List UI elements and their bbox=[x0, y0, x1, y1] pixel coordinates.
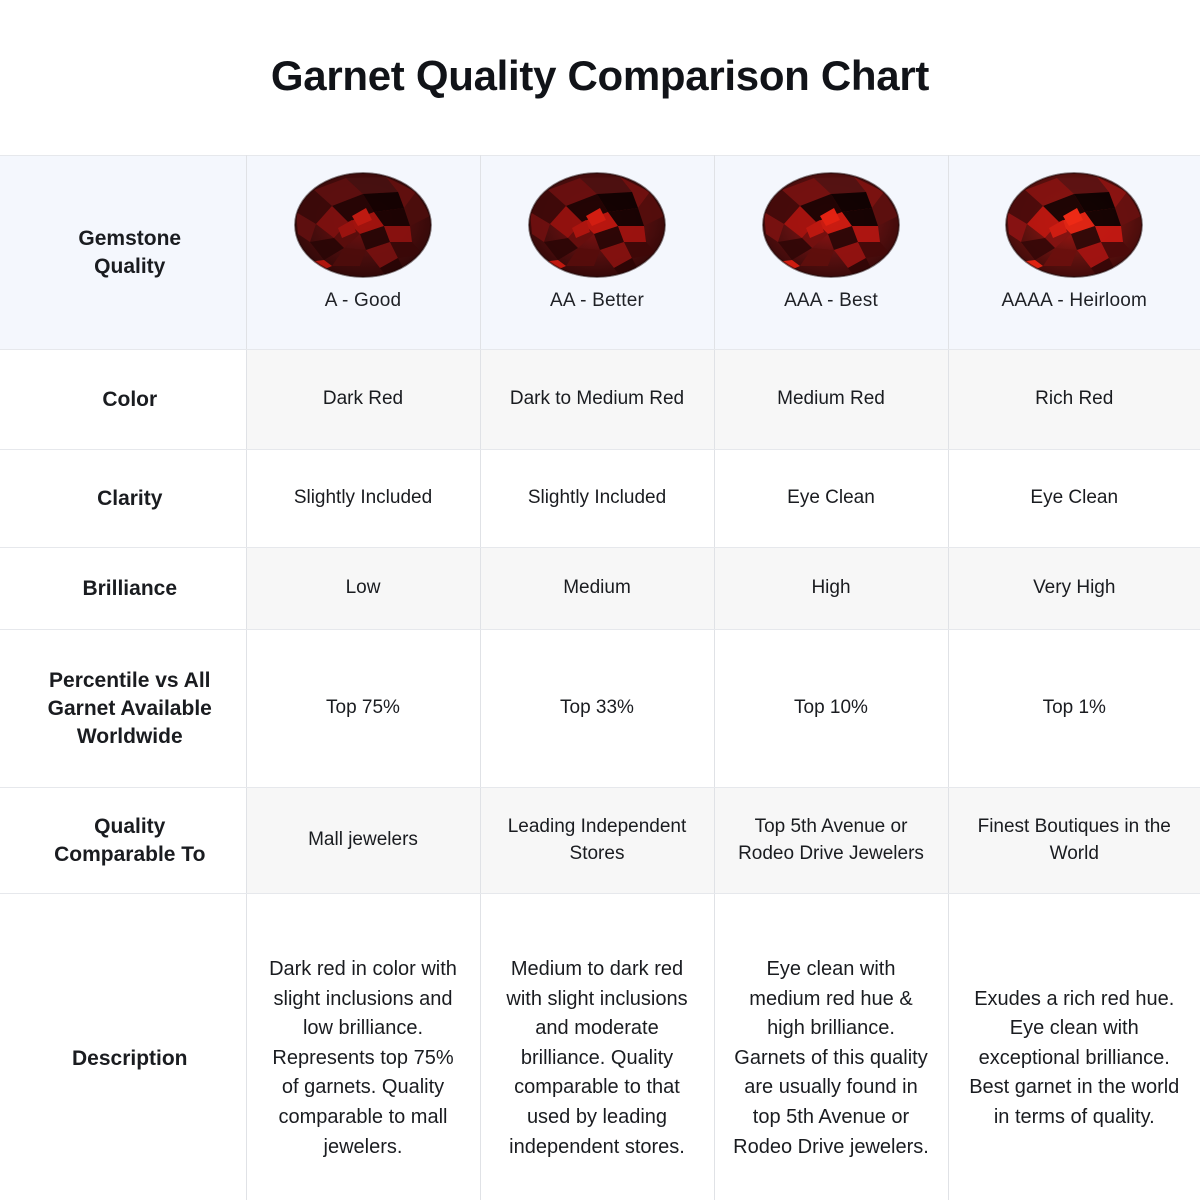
row-label-text-line2: Quality bbox=[94, 255, 165, 278]
cell-comparable-a: Mall jewelers bbox=[246, 788, 480, 894]
page-title: Garnet Quality Comparison Chart bbox=[0, 0, 1200, 99]
cell-color-aa: Dark to Medium Red bbox=[480, 350, 714, 450]
cell-color-aaaa: Rich Red bbox=[948, 350, 1200, 450]
cell-description-a: Dark red in color with slight inclusions… bbox=[246, 894, 480, 1200]
row-label-brilliance: Brilliance bbox=[0, 548, 246, 630]
row-label-percentile: Percentile vs All Garnet Available World… bbox=[0, 630, 246, 788]
row-label-gemstone-quality: Gemstone Quality bbox=[0, 156, 246, 350]
garnet-oval-gem-icon bbox=[528, 172, 666, 278]
cell-clarity-aaa: Eye Clean bbox=[714, 450, 948, 548]
row-label-description: Description bbox=[0, 894, 246, 1200]
gem-cell-a: A - Good bbox=[246, 156, 480, 350]
cell-percentile-aaa: Top 10% bbox=[714, 630, 948, 788]
cell-description-aa: Medium to dark red with slight inclusion… bbox=[480, 894, 714, 1200]
row-label-text-line1: Gemstone bbox=[78, 227, 181, 250]
comparison-table: Gemstone Quality bbox=[0, 155, 1200, 1200]
cell-description-aaaa: Exudes a rich red hue. Eye clean with ex… bbox=[948, 894, 1200, 1200]
table-row-clarity: Clarity Slightly Included Slightly Inclu… bbox=[0, 450, 1200, 548]
garnet-quality-comparison-page: Garnet Quality Comparison Chart Gemstone… bbox=[0, 0, 1200, 1200]
cell-percentile-a: Top 75% bbox=[246, 630, 480, 788]
table-row-comparable: Quality Comparable To Mall jewelers Lead… bbox=[0, 788, 1200, 894]
cell-comparable-aaa: Top 5th Avenue or Rodeo Drive Jewelers bbox=[714, 788, 948, 894]
table-row-description: Description Dark red in color with sligh… bbox=[0, 894, 1200, 1200]
garnet-oval-gem-icon bbox=[762, 172, 900, 278]
garnet-oval-gem-icon bbox=[1005, 172, 1143, 278]
table-row-brilliance: Brilliance Low Medium High Very High bbox=[0, 548, 1200, 630]
cell-comparable-aa: Leading Independent Stores bbox=[480, 788, 714, 894]
gem-grade-label: A - Good bbox=[325, 290, 402, 312]
gem-grade-label: AAAA - Heirloom bbox=[1001, 290, 1147, 312]
cell-color-aaa: Medium Red bbox=[714, 350, 948, 450]
gem-cell-aa: AA - Better bbox=[480, 156, 714, 350]
cell-description-aaa: Eye clean with medium red hue & high bri… bbox=[714, 894, 948, 1200]
table-row-gemstone-quality: Gemstone Quality bbox=[0, 156, 1200, 350]
row-label-color: Color bbox=[0, 350, 246, 450]
row-label-clarity: Clarity bbox=[0, 450, 246, 548]
cell-brilliance-aa: Medium bbox=[480, 548, 714, 630]
cell-clarity-aaaa: Eye Clean bbox=[948, 450, 1200, 548]
garnet-oval-gem-icon bbox=[294, 172, 432, 278]
cell-percentile-aa: Top 33% bbox=[480, 630, 714, 788]
table-row-color: Color Dark Red Dark to Medium Red Medium… bbox=[0, 350, 1200, 450]
gem-grade-label: AAA - Best bbox=[784, 290, 878, 312]
cell-clarity-a: Slightly Included bbox=[246, 450, 480, 548]
cell-brilliance-aaa: High bbox=[714, 548, 948, 630]
cell-clarity-aa: Slightly Included bbox=[480, 450, 714, 548]
gem-grade-label: AA - Better bbox=[550, 290, 644, 312]
cell-percentile-aaaa: Top 1% bbox=[948, 630, 1200, 788]
cell-comparable-aaaa: Finest Boutiques in the World bbox=[948, 788, 1200, 894]
cell-brilliance-aaaa: Very High bbox=[948, 548, 1200, 630]
row-label-comparable: Quality Comparable To bbox=[0, 788, 246, 894]
gem-cell-aaa: AAA - Best bbox=[714, 156, 948, 350]
cell-brilliance-a: Low bbox=[246, 548, 480, 630]
gem-cell-aaaa: AAAA - Heirloom bbox=[948, 156, 1200, 350]
table-row-percentile: Percentile vs All Garnet Available World… bbox=[0, 630, 1200, 788]
cell-color-a: Dark Red bbox=[246, 350, 480, 450]
